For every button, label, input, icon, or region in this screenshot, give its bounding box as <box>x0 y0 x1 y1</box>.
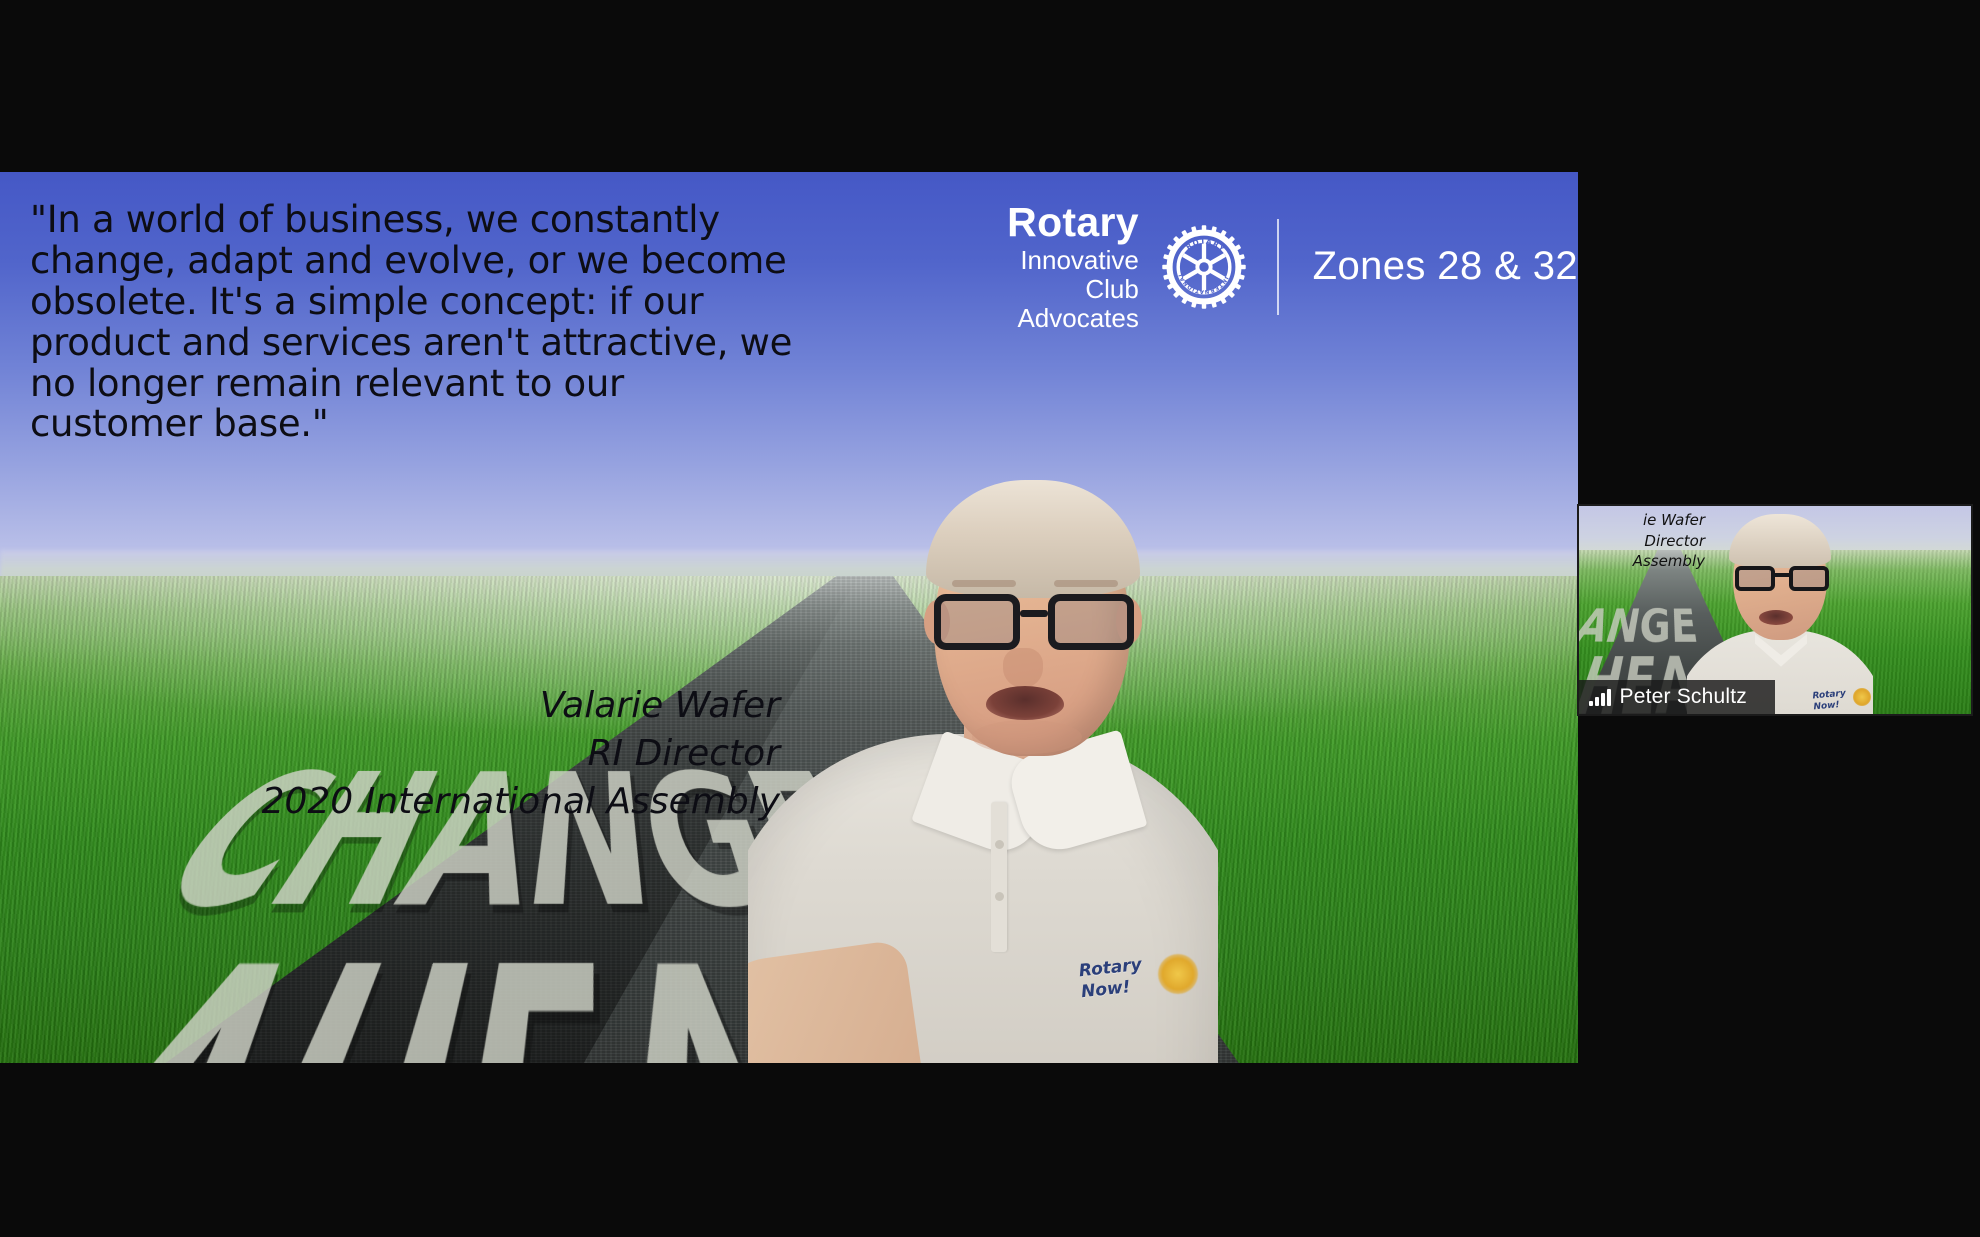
slide-quote-text: "In a world of business, we constantly c… <box>30 200 800 445</box>
pip-eyeglass-lens-right <box>1789 566 1829 591</box>
attribution-event: 2020 International Assembly <box>120 778 780 826</box>
pip-shirt-logo: Rotary Now! <box>1812 689 1847 713</box>
attribution-title: RI Director <box>120 730 780 778</box>
rotary-brand-lockup: Rotary Innovative Club Advocates <box>980 200 1578 333</box>
pip-mouth <box>1759 610 1793 625</box>
pip-shirt-rotary-wheel-icon <box>1853 688 1871 706</box>
rotary-org-name: Rotary <box>980 200 1139 246</box>
pip-eyeglasses <box>1735 566 1829 592</box>
rotary-wordmark: Rotary Innovative Club Advocates <box>980 200 1139 333</box>
shared-screen-slide[interactable]: CHANGE AHEAD "In a world of business, we… <box>0 172 1578 1063</box>
pip-eyeglass-bridge <box>1775 573 1789 577</box>
rotary-wheel-icon: ROTARY INTERNATIONAL <box>1161 224 1247 310</box>
pip-eyeglass-lens-left <box>1735 566 1775 591</box>
pip-hair <box>1729 514 1831 568</box>
brand-divider <box>1277 219 1279 315</box>
rotary-tagline-line-2: Advocates <box>980 304 1139 333</box>
signal-bars-icon <box>1589 689 1611 706</box>
rotary-tagline-line-1: Innovative Club <box>980 246 1139 304</box>
slide-attribution: Valarie Wafer RI Director 2020 Internati… <box>120 682 780 826</box>
pip-participant-name: Peter Schultz <box>1620 685 1748 709</box>
attribution-name: Valarie Wafer <box>120 682 780 730</box>
pip-name-bar: Peter Schultz <box>1579 680 1775 714</box>
pip-participant-tile[interactable]: ie Wafer Director Assembly ANGE HEA Rota… <box>1577 504 1973 716</box>
zones-label: Zones 28 & 32 <box>1313 244 1578 289</box>
meeting-stage: CHANGE AHEAD "In a world of business, we… <box>0 0 1980 1237</box>
